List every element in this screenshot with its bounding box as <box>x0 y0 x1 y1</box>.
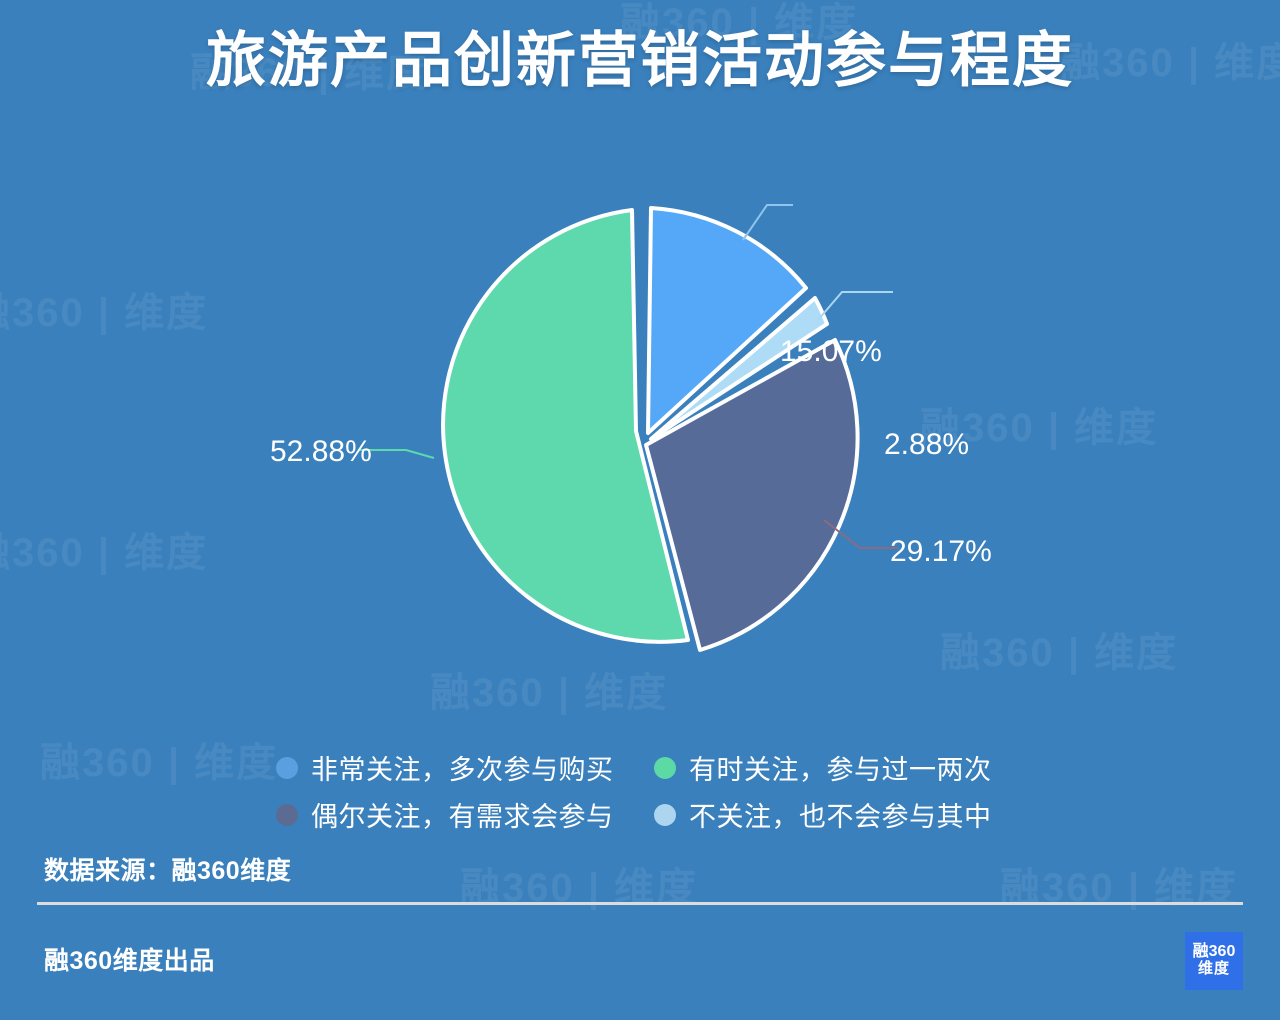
legend-dot-icon <box>654 757 676 779</box>
legend-dot-icon <box>276 757 298 779</box>
chart-legend: 非常关注，多次参与购买 有时关注，参与过一两次 偶尔关注，有需求会参与 不关注，… <box>0 748 1280 834</box>
legend-label: 非常关注，多次参与购买 <box>311 748 614 787</box>
pie-value-label-green: 52.88% <box>270 435 372 469</box>
legend-item-1[interactable]: 有时关注，参与过一两次 <box>654 748 1004 787</box>
legend-item-2[interactable]: 偶尔关注，有需求会参与 <box>276 795 626 834</box>
leader-line-blue <box>743 205 793 240</box>
legend-item-0[interactable]: 非常关注，多次参与购买 <box>276 748 626 787</box>
pie-slices <box>443 208 858 650</box>
footer-divider <box>37 902 1243 905</box>
leader-line-lightblue <box>818 292 893 320</box>
legend-row-1: 非常关注，多次参与购买 有时关注，参与过一两次 <box>276 748 1004 787</box>
legend-dot-icon <box>654 804 676 826</box>
legend-row-2: 偶尔关注，有需求会参与 不关注，也不会参与其中 <box>276 795 1004 834</box>
pie-chart: 15.07% 2.88% 29.17% 52.88% <box>0 150 1280 710</box>
rong360-logo: 融360 维度 <box>1185 932 1243 990</box>
logo-top-text: 融360 <box>1193 944 1236 961</box>
legend-label: 有时关注，参与过一两次 <box>689 748 992 787</box>
legend-dot-icon <box>276 804 298 826</box>
legend-item-3[interactable]: 不关注，也不会参与其中 <box>654 795 1004 834</box>
data-source-text: 数据来源：融360维度 <box>44 851 291 887</box>
logo-bottom-text: 维度 <box>1198 961 1230 978</box>
pie-chart-svg <box>0 150 1280 710</box>
pie-value-label-lightblue: 2.88% <box>884 428 969 462</box>
legend-label: 不关注，也不会参与其中 <box>689 795 992 834</box>
page-title: 旅游产品创新营销活动参与程度 <box>0 26 1280 95</box>
pie-value-label-blue: 15.07% <box>780 335 882 369</box>
legend-label: 偶尔关注，有需求会参与 <box>311 795 614 834</box>
infographic-page: 融360 | 维度 融360 | 维度 融360 | 维度 融360 | 维度 … <box>0 0 1280 1020</box>
produced-by-text: 融360维度出品 <box>44 941 215 977</box>
pie-value-label-gray: 29.17% <box>890 535 992 569</box>
